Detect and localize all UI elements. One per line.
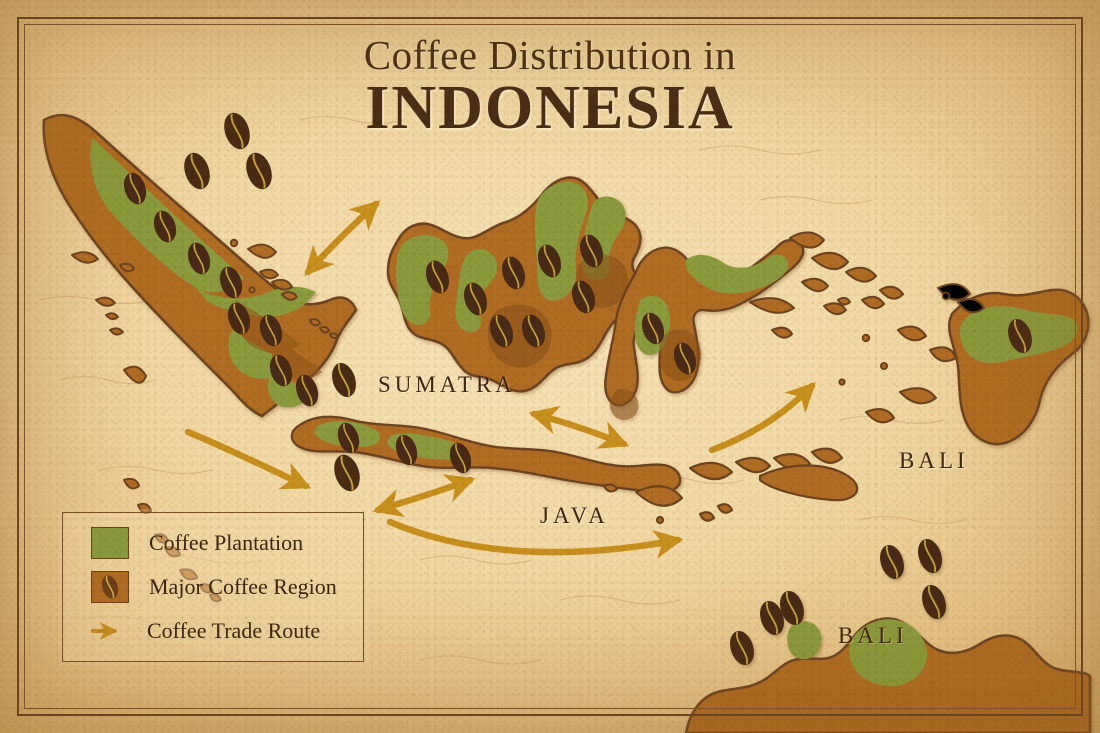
place-label-bali: BALI [899, 448, 969, 474]
legend-label-plantation: Coffee Plantation [149, 530, 303, 556]
trade-route-arrow-5 [390, 522, 678, 552]
legend-label-major-region: Major Coffee Region [149, 574, 337, 600]
place-label-sumatra: SUMATRA [378, 372, 516, 398]
island-borneo [388, 178, 645, 392]
trade-route-arrow-4 [378, 480, 470, 510]
trade-route-arrow-3 [534, 414, 624, 444]
legend-item-plantation: Coffee Plantation [63, 521, 363, 565]
legend-swatch-trade-route [91, 616, 127, 646]
trade-route-arrow-2 [188, 432, 306, 486]
island-papua [938, 284, 1088, 444]
map-legend: Coffee Plantation Major Coffee Region [62, 512, 364, 662]
legend-item-trade-route: Coffee Trade Route [63, 609, 363, 653]
legend-swatch-major-region [91, 571, 129, 603]
legend-item-major-region: Major Coffee Region [63, 565, 363, 609]
trade-route-arrow-6 [712, 386, 812, 450]
place-label-java: JAVA [540, 503, 609, 529]
legend-label-trade-route: Coffee Trade Route [147, 618, 320, 644]
place-label-bali-south: BALI [838, 623, 908, 649]
arrow-right-icon [91, 622, 127, 640]
coffee-bean-icon [101, 574, 120, 601]
legend-swatch-plantation [91, 527, 129, 559]
coffee-distribution-map: Coffee Distribution in INDONESIA SUMATRA… [0, 0, 1100, 733]
trade-route-arrow-1 [308, 204, 376, 272]
